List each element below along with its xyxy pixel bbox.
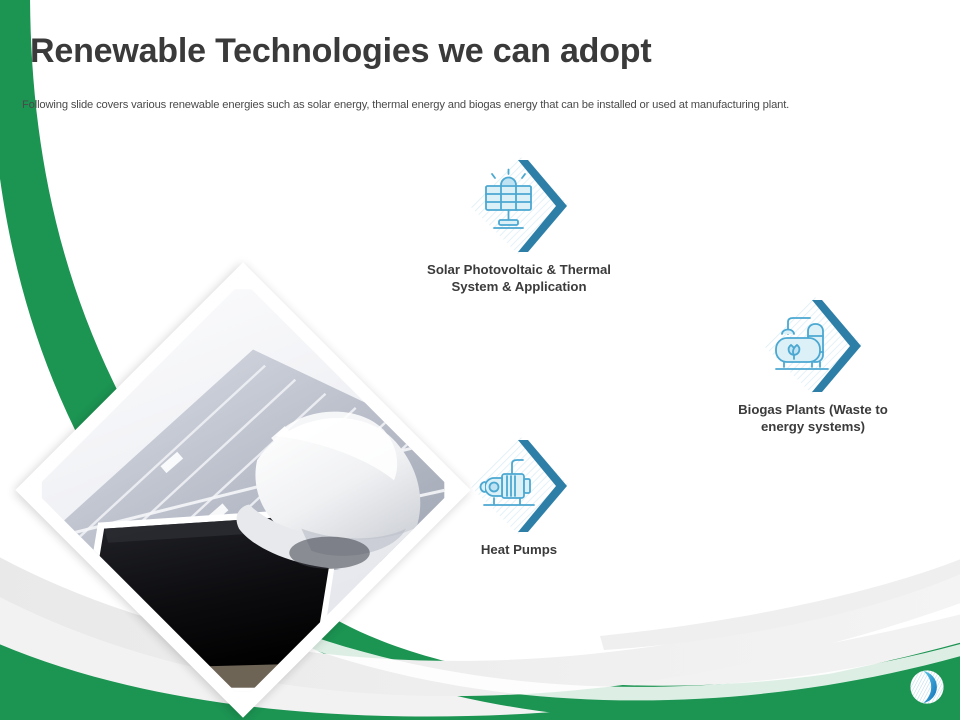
solar-photo-artwork bbox=[42, 289, 445, 692]
white-accent-curve bbox=[248, 612, 960, 700]
slide-canvas: Renewable Technologies we can adopt Foll… bbox=[0, 0, 960, 720]
gray-curve-right bbox=[600, 552, 960, 650]
biogas-label-line1: Biogas Plants (Waste to bbox=[682, 401, 944, 418]
solar-badge[interactable] bbox=[468, 154, 572, 258]
heat-pumps-label: Heat Pumps bbox=[398, 541, 640, 558]
solar-photo bbox=[34, 281, 453, 700]
biogas-badge[interactable] bbox=[762, 294, 866, 398]
page-subtitle: Following slide covers various renewable… bbox=[22, 99, 902, 111]
solar-label-line1: Solar Photovoltaic & Thermal bbox=[378, 261, 660, 278]
heat-pumps-label-line1: Heat Pumps bbox=[398, 541, 640, 558]
page-title: Renewable Technologies we can adopt bbox=[30, 32, 652, 71]
biogas-label-line2: energy systems) bbox=[682, 418, 944, 435]
heat-pump-badge[interactable] bbox=[468, 434, 572, 538]
crescent-logo bbox=[908, 668, 946, 706]
solar-label-line2: System & Application bbox=[378, 278, 660, 295]
solar-label: Solar Photovoltaic & Thermal System & Ap… bbox=[378, 261, 660, 296]
biogas-label: Biogas Plants (Waste to energy systems) bbox=[682, 401, 944, 436]
solar-photo-frame bbox=[15, 262, 470, 717]
